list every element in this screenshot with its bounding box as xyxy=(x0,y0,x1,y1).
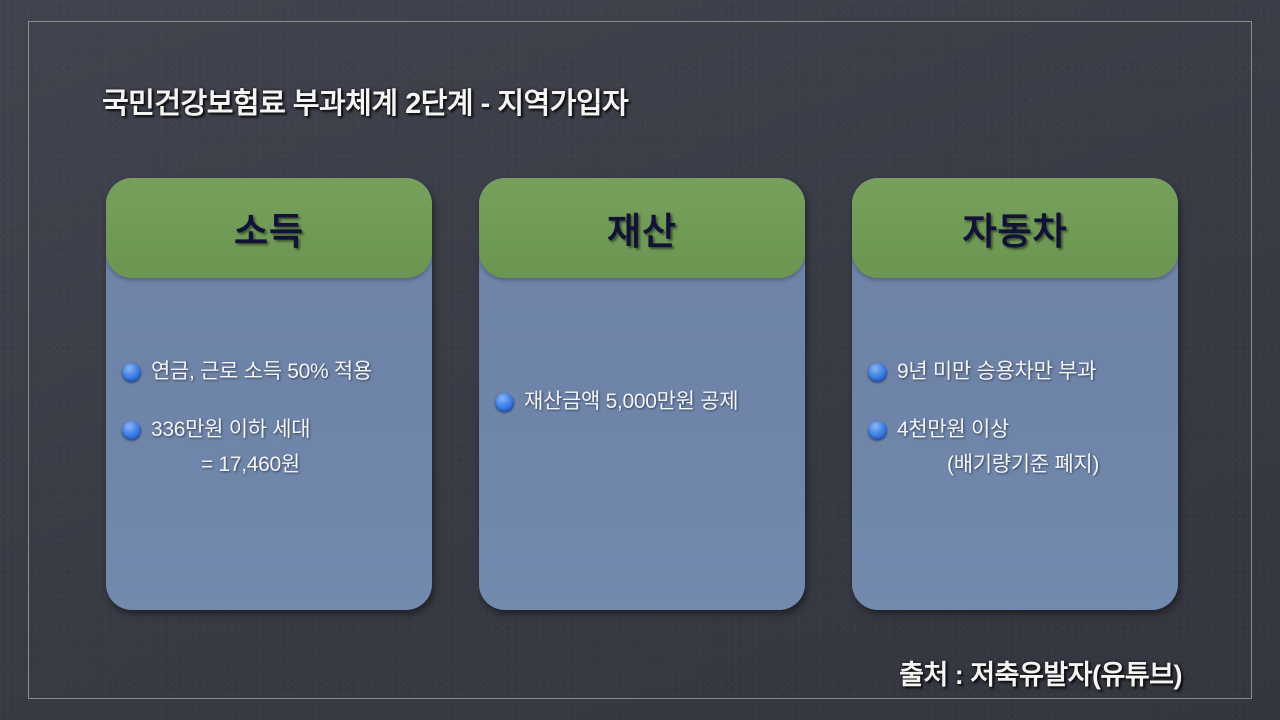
card-header-label: 소득 xyxy=(234,201,304,255)
bullet-text: 재산금액 5,000만원 공제 xyxy=(524,388,738,416)
bullet-dot-icon xyxy=(122,421,141,440)
bullet-dot-icon xyxy=(868,363,887,382)
source-attribution: 출처 : 저축유발자(유튜브) xyxy=(899,653,1182,692)
page-title: 국민건강보험료 부과체계 2단계 - 지역가입자 xyxy=(102,80,628,122)
bullet-text: 336만원 이하 세대 xyxy=(151,418,310,441)
bullet-text-wrap: 4천만원 이상 (배기량기준 폐지) xyxy=(897,416,1099,479)
list-item: 336만원 이하 세대 = 17,460원 xyxy=(122,416,416,479)
bullet-subline: = 17,460원 xyxy=(151,451,310,479)
list-item: 재산금액 5,000만원 공제 xyxy=(495,388,789,416)
bullet-list: 연금, 근로 소득 50% 적용 336만원 이하 세대 = 17,460원 xyxy=(122,358,416,479)
bullet-dot-icon xyxy=(495,393,514,412)
bullet-text: 4천만원 이상 xyxy=(897,418,1009,441)
list-item: 연금, 근로 소득 50% 적용 xyxy=(122,358,416,386)
list-item: 4천만원 이상 (배기량기준 폐지) xyxy=(868,416,1162,479)
card-header-label: 자동차 xyxy=(962,201,1067,255)
card-automobile: 자동차 9년 미만 승용차만 부과 4천만원 이상 (배기량기준 폐지) xyxy=(852,178,1178,610)
bullet-dot-icon xyxy=(122,363,141,382)
bullet-subline: (배기량기준 폐지) xyxy=(897,451,1099,479)
bullet-list: 9년 미만 승용차만 부과 4천만원 이상 (배기량기준 폐지) xyxy=(868,358,1162,479)
card-body-income: 연금, 근로 소득 50% 적용 336만원 이하 세대 = 17,460원 xyxy=(106,278,432,610)
card-header-income: 소득 xyxy=(106,178,432,278)
card-header-label: 재산 xyxy=(607,201,677,255)
bullet-text-wrap: 336만원 이하 세대 = 17,460원 xyxy=(151,416,310,479)
bullet-list: 재산금액 5,000만원 공제 xyxy=(495,388,789,416)
bullet-dot-icon xyxy=(868,421,887,440)
card-header-property: 재산 xyxy=(479,178,805,278)
card-body-property: 재산금액 5,000만원 공제 xyxy=(479,278,805,610)
category-card-group: 소득 연금, 근로 소득 50% 적용 336만원 이하 세대 = 17,460… xyxy=(106,178,1178,610)
bullet-text: 9년 미만 승용차만 부과 xyxy=(897,358,1096,386)
card-property: 재산 재산금액 5,000만원 공제 xyxy=(479,178,805,610)
list-item: 9년 미만 승용차만 부과 xyxy=(868,358,1162,386)
card-body-automobile: 9년 미만 승용차만 부과 4천만원 이상 (배기량기준 폐지) xyxy=(852,278,1178,610)
card-income: 소득 연금, 근로 소득 50% 적용 336만원 이하 세대 = 17,460… xyxy=(106,178,432,610)
card-header-automobile: 자동차 xyxy=(852,178,1178,278)
bullet-text: 연금, 근로 소득 50% 적용 xyxy=(151,358,372,386)
